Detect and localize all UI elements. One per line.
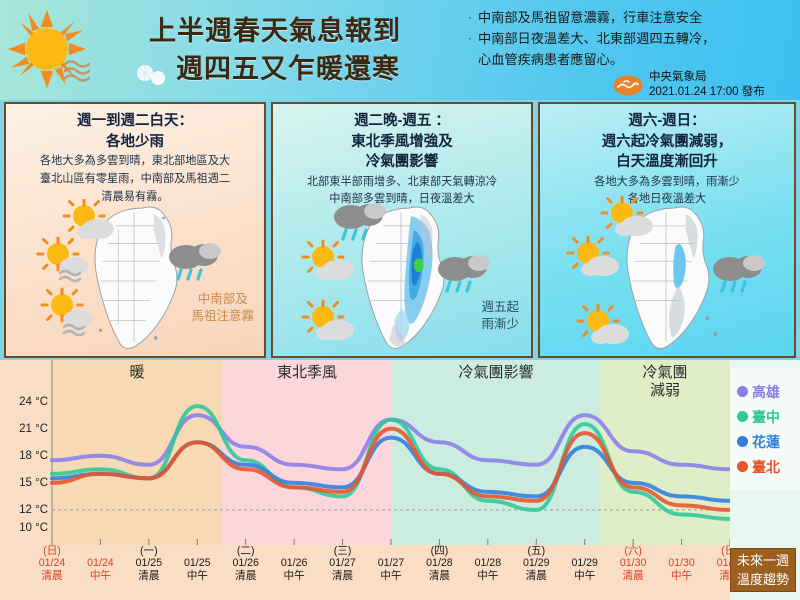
rain-cloud-icon [433, 247, 493, 295]
panel-sub-line-1: 各地大多為多雲到晴，東北部地區及大 [12, 154, 258, 170]
advisory-text-cont: 心血管疾病患者應留心。 [462, 50, 798, 71]
chart-plot-area [0, 360, 800, 545]
sun-cloud-icon [576, 303, 632, 347]
map-annotation-rain: 週五起 雨漸少 [481, 299, 519, 333]
map-note-line-2: 雨漸少 [481, 316, 519, 333]
forecast-panel-sat-sun: 週六-週日： 週六起冷氣團減弱， 白天溫度漸回升 各地大多為多雲到晴，雨漸少 各… [538, 102, 796, 358]
y-axis-tick: 12 °C [19, 504, 48, 516]
panel-title-line-2: 各地少雨 [12, 132, 258, 153]
sun-fog-icon [36, 237, 92, 285]
advisory-list: · 中南部及馬祖留意濃霧，行車注意安全 · 中南部日夜溫差大、北東部週四五轉冷，… [462, 8, 798, 71]
panel-header: 週六-週日： 週六起冷氣團減弱， 白天溫度漸回升 各地大多為多雲到晴，雨漸少 各… [540, 104, 794, 208]
issuer-name: 中央氣象局 [649, 70, 765, 85]
chart-series-line [52, 429, 730, 510]
legend-label: 花蓮 [752, 432, 780, 452]
sun-fog-icon [40, 287, 96, 339]
chart-legend: 高雄臺中花蓮臺北 [730, 368, 800, 490]
advisory-item: · 中南部及馬祖留意濃霧，行車注意安全 [462, 8, 798, 29]
legend-label: 臺中 [752, 407, 780, 427]
chart-x-axis: (日)01/24清晨01/24中午(一)01/25清晨01/25中午(二)01/… [0, 545, 800, 600]
legend-label: 臺北 [752, 457, 780, 477]
legend-color-dot [737, 461, 748, 472]
title-line-2: 週四五又乍暖還寒 [95, 50, 455, 88]
trend-title-line-2: 溫度趨勢 [737, 570, 789, 590]
panel-title-line-1: 週二晚-週五 ： [279, 111, 525, 132]
rain-cloud-icon [164, 235, 224, 283]
chart-series-line [52, 415, 730, 469]
issue-time: 2021.01.24 17:00 發布 [649, 85, 765, 100]
panel-header: 週一到週二白天： 各地少雨 各地大多為多雲到晴，東北部地區及大 臺北山區有零星雨… [6, 104, 264, 205]
panel-title-line-2: 東北季風增強及 [279, 132, 525, 153]
panel-sub-line-1: 各地大多為多雲到晴，雨漸少 [546, 175, 788, 191]
issuer-text: 中央氣象局 2021.01.24 17:00 發布 [649, 70, 765, 100]
panel-sub-line-2: 臺北山區有零星雨，中南部及馬祖週二 [12, 172, 258, 188]
y-axis-tick: 15 °C [19, 477, 48, 489]
sun-cloud-icon [301, 299, 357, 343]
sun-cloud-icon [566, 235, 622, 279]
taiwan-map-mon-tue: 中南部及 馬祖注意霧 [6, 199, 264, 358]
panel-header: 週二晚-週五 ： 東北季風增強及 冷氣團影響 北部東半部雨增多、北東部天氣轉涼冷… [273, 104, 531, 208]
advisory-text: 中南部日夜溫差大、北東部週四五轉冷， [478, 29, 798, 50]
forecast-panel-tue-fri: 週二晚-週五 ： 東北季風增強及 冷氣團影響 北部東半部雨增多、北東部天氣轉涼冷… [271, 102, 533, 358]
y-axis-tick: 24 °C [19, 396, 48, 408]
bullet-dot-icon: · [462, 29, 478, 48]
legend-color-dot [737, 411, 748, 422]
chart-y-axis: 24 °C21 °C18 °C15 °C12 °C10 °C [0, 360, 52, 545]
panel-title-line-2: 週六起冷氣團減弱， [546, 132, 788, 153]
y-axis-tick: 18 °C [19, 450, 48, 462]
panel-title-line-1: 週六-週日： [546, 111, 788, 132]
sun-cloud-icon [301, 239, 357, 283]
legend-item[interactable]: 花蓮 [737, 429, 800, 454]
rain-cloud-icon [329, 195, 389, 243]
bullet-dot-icon: · [462, 8, 478, 27]
legend-item[interactable]: 臺北 [737, 454, 800, 479]
page-title: 上半週春天氣息報到 週四五又乍暖還寒 [95, 12, 455, 89]
sun-cloud-icon [600, 195, 656, 239]
map-note-line-1: 週五起 [481, 299, 519, 316]
advisory-text: 中南部及馬祖留意濃霧，行車注意安全 [478, 8, 798, 29]
panel-sub-line-1: 北部東半部雨增多、北東部天氣轉涼冷 [279, 175, 525, 191]
taiwan-map-tue-fri: 週五起 雨漸少 [273, 199, 531, 358]
forecast-panel-mon-tue: 週一到週二白天： 各地少雨 各地大多為多雲到晴，東北部地區及大 臺北山區有零星雨… [4, 102, 266, 358]
map-note-line-2: 馬祖注意霧 [191, 308, 254, 325]
title-line-1: 上半週春天氣息報到 [95, 12, 455, 50]
sun-cloud-icon [62, 199, 118, 241]
panel-title-line-1: 週一到週二白天： [12, 111, 258, 132]
taiwan-map-sat-sun [540, 199, 794, 358]
legend-label: 高雄 [752, 382, 780, 402]
legend-item[interactable]: 高雄 [737, 379, 800, 404]
map-note-line-1: 中南部及 [191, 291, 254, 308]
panel-title-line-3: 冷氣團影響 [279, 152, 525, 173]
header-banner: 上半週春天氣息報到 週四五又乍暖還寒 · 中南部及馬祖留意濃霧，行車注意安全 ·… [0, 0, 800, 100]
trend-title-box: 未來一週 溫度趨勢 [730, 548, 796, 592]
panel-title-line-3: 白天溫度漸回升 [546, 152, 788, 173]
temperature-trend-chart: 暖東北季風冷氣團影響冷氣團減弱 24 °C21 °C18 °C15 °C12 °… [0, 360, 800, 600]
trend-title-line-1: 未來一週 [737, 551, 789, 571]
map-annotation-fog: 中南部及 馬祖注意霧 [191, 291, 254, 325]
legend-color-dot [737, 436, 748, 447]
rain-cloud-icon [708, 247, 768, 295]
legend-item[interactable]: 臺中 [737, 404, 800, 429]
legend-color-dot [737, 386, 748, 397]
y-axis-tick: 10 °C [19, 522, 48, 534]
cwb-logo-icon [613, 75, 643, 96]
advisory-item: · 中南部日夜溫差大、北東部週四五轉冷， [462, 29, 798, 50]
forecast-panels: 週一到週二白天： 各地少雨 各地大多為多雲到晴，東北部地區及大 臺北山區有零星雨… [0, 100, 800, 360]
y-axis-tick: 21 °C [19, 423, 48, 435]
issuer-block: 中央氣象局 2021.01.24 17:00 發布 [613, 70, 765, 100]
